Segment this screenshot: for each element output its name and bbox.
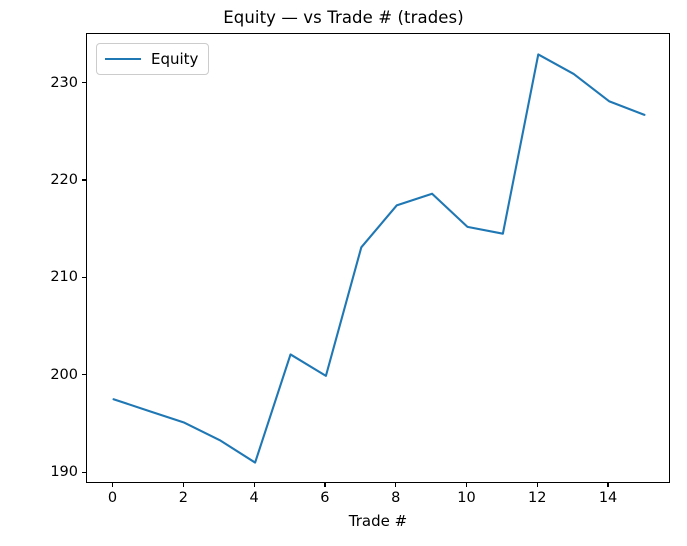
x-tick-label: 4 bbox=[229, 490, 279, 506]
y-tick-label: 230 bbox=[26, 75, 78, 91]
x-tick-label: 2 bbox=[158, 490, 208, 506]
x-tick-label: 10 bbox=[441, 490, 491, 506]
chart-legend: Equity bbox=[96, 43, 209, 75]
chart-figure: Equity — vs Trade # (trades) Equity Trad… bbox=[0, 0, 687, 546]
x-axis-label: Trade # bbox=[86, 512, 670, 530]
x-tick-label: 6 bbox=[300, 490, 350, 506]
y-tick-label: 200 bbox=[26, 367, 78, 383]
plot-area bbox=[86, 33, 670, 483]
equity-series-line bbox=[114, 54, 645, 462]
x-tick-label: 12 bbox=[512, 490, 562, 506]
legend-line-swatch bbox=[105, 58, 141, 60]
y-tick-label: 190 bbox=[26, 464, 78, 480]
y-tick-label: 220 bbox=[26, 172, 78, 188]
x-tick-label: 0 bbox=[88, 490, 138, 506]
y-tick-label: 210 bbox=[26, 269, 78, 285]
x-tick-label: 8 bbox=[371, 490, 421, 506]
equity-line-chart bbox=[87, 34, 671, 484]
y-axis-label: Equity bbox=[0, 17, 1, 477]
x-tick-label: 14 bbox=[583, 490, 633, 506]
legend-label-equity: Equity bbox=[151, 50, 198, 68]
chart-title: Equity — vs Trade # (trades) bbox=[0, 8, 687, 27]
